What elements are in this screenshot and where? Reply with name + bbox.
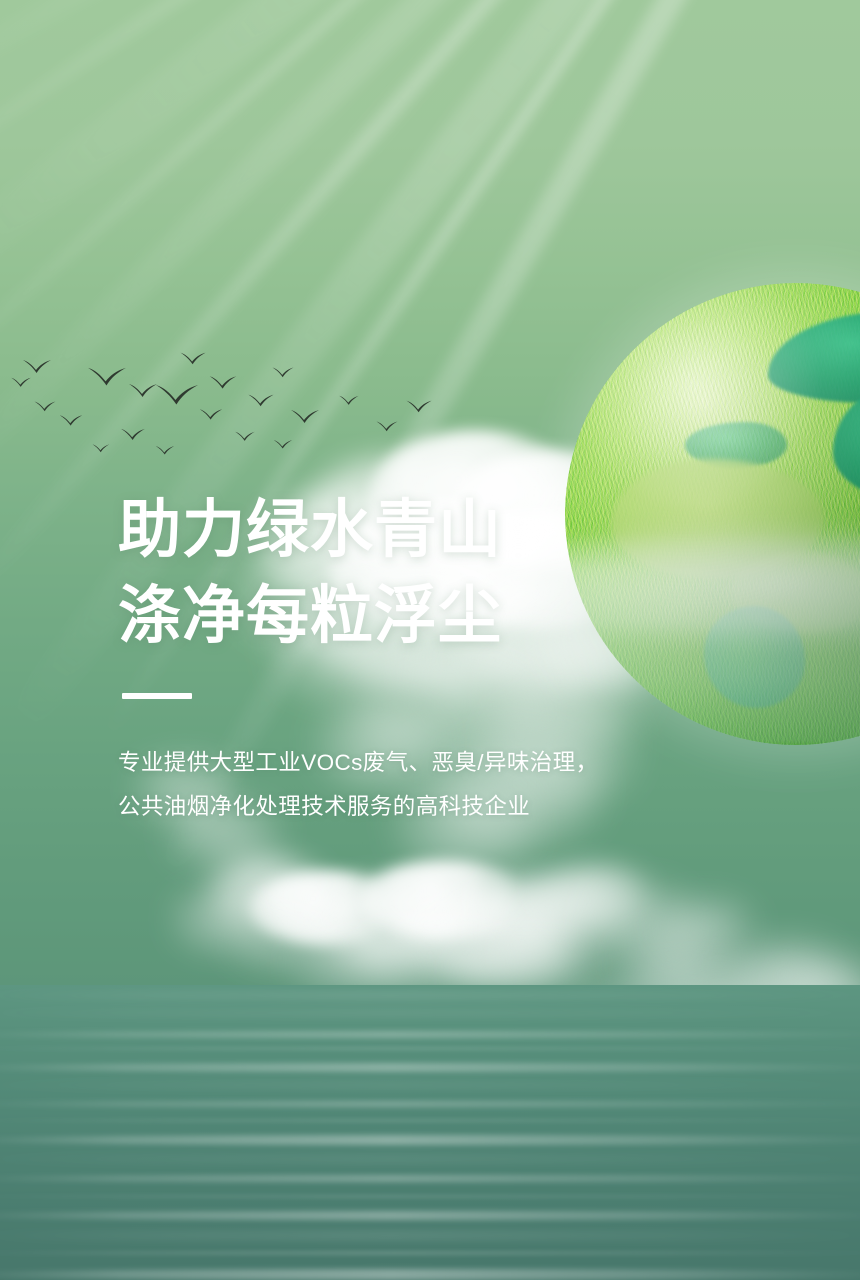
- bird-icon: [59, 414, 83, 427]
- water-wave: [0, 1211, 860, 1220]
- water-wave: [0, 1083, 860, 1087]
- water-wave: [0, 1233, 860, 1238]
- water-wave: [0, 1119, 860, 1122]
- bird-icon: [87, 365, 128, 387]
- water-wave: [0, 1011, 860, 1015]
- headline-block: 助力绿水青山 涤净每粒浮尘 专业提供大型工业VOCs废气、恶臭/异味治理， 公共…: [118, 487, 738, 827]
- divider-rule: [122, 693, 192, 699]
- water-wave: [0, 1031, 860, 1038]
- bird-icon: [272, 366, 295, 378]
- bird-icon: [406, 399, 433, 413]
- water-wave: [0, 1063, 860, 1072]
- bird-icon: [34, 400, 57, 412]
- bird-icon: [120, 427, 146, 441]
- water-wave: [0, 1251, 860, 1255]
- water-wave: [0, 1047, 860, 1050]
- bird-icon: [339, 394, 360, 405]
- bird-icon: [290, 408, 320, 424]
- bird-icon: [155, 382, 200, 406]
- bird-icon: [11, 376, 32, 387]
- subtitle-line-1: 专业提供大型工业VOCs废气、恶臭/异味治理，: [118, 743, 738, 783]
- headline-line-2: 涤净每粒浮尘: [118, 573, 738, 659]
- bird-icon: [273, 439, 293, 449]
- headline-line-1: 助力绿水青山: [118, 487, 738, 573]
- bird-icon: [22, 358, 52, 374]
- water-wave: [0, 1269, 860, 1280]
- water-wave: [0, 1195, 860, 1198]
- bird-icon: [209, 374, 238, 389]
- subtitle-line-2: 公共油烟净化处理技术服务的高科技企业: [118, 787, 738, 827]
- bird-icon: [92, 443, 110, 453]
- bird-icon: [248, 393, 275, 407]
- bird-icon: [376, 420, 399, 432]
- water-wave: [0, 1101, 860, 1107]
- poster-canvas: 助力绿水青山 涤净每粒浮尘 专业提供大型工业VOCs废气、恶臭/异味治理， 公共…: [0, 0, 860, 1280]
- bird-icon: [199, 408, 223, 421]
- water-wave: [0, 1157, 860, 1161]
- water-wave: [0, 993, 860, 998]
- water-wave: [0, 1135, 860, 1145]
- bird-icon: [180, 351, 207, 365]
- water-surface: [0, 985, 860, 1280]
- bird-icon: [155, 445, 175, 455]
- bird-icon: [128, 382, 158, 398]
- bird-icon: [235, 430, 256, 441]
- birds-flock: [0, 330, 460, 470]
- water-wave: [0, 1175, 860, 1182]
